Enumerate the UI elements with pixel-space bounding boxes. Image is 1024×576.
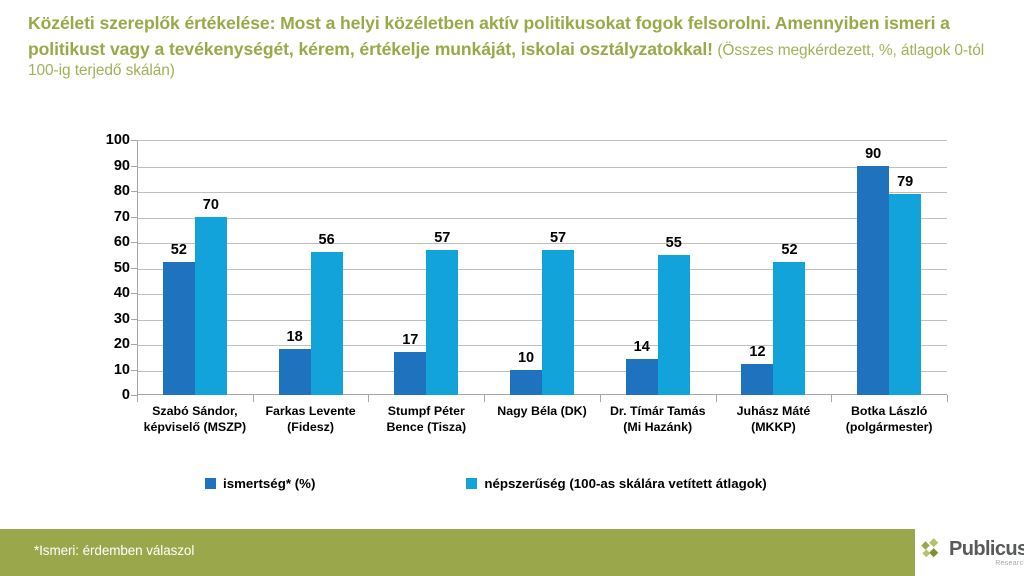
x-axis-category-line: Bence (Tisza): [370, 419, 482, 435]
y-axis-tick: [131, 217, 137, 218]
y-axis-tick: [131, 370, 137, 371]
x-axis-category-label: Juhász Máté(MKKP): [716, 403, 832, 435]
y-axis-tick-label: 40: [90, 285, 130, 301]
bar-value-label: 52: [781, 242, 797, 258]
bar-value-label: 70: [203, 197, 219, 213]
legend-swatch-icon: [466, 478, 477, 489]
bar[interactable]: 57: [542, 250, 574, 395]
y-axis-tick: [131, 344, 137, 345]
x-axis-category-label: Stumpf PéterBence (Tisza): [368, 403, 484, 435]
x-axis-category-label: Nagy Béla (DK): [484, 403, 600, 435]
bar-group: 1757: [368, 140, 484, 395]
y-axis-tick: [131, 242, 137, 243]
bar-group: 1856: [253, 140, 369, 395]
bar-value-label: 52: [171, 242, 187, 258]
bar-group: 1057: [484, 140, 600, 395]
bar-value-label: 90: [865, 146, 881, 162]
x-axis-category-label: Szabó Sándor,képviselő (MSZP): [137, 403, 253, 435]
x-axis-ticks: [137, 395, 947, 402]
x-axis-tick: [947, 395, 948, 402]
chart-legend: ismertség* (%)népszerűség (100-as skálár…: [137, 476, 947, 491]
bar-value-label: 57: [550, 230, 566, 246]
y-axis-tick-label: 60: [90, 234, 130, 250]
bar[interactable]: 79: [889, 194, 921, 395]
bar[interactable]: 57: [426, 250, 458, 395]
bar-group: 1455: [600, 140, 716, 395]
x-axis-category-label: Farkas Levente(Fidesz): [253, 403, 369, 435]
bar[interactable]: 52: [163, 262, 195, 395]
x-axis-tick: [253, 395, 254, 402]
bar[interactable]: 56: [311, 252, 343, 395]
publicus-diamond-icon: [921, 538, 945, 567]
y-axis-tick-label: 100: [90, 132, 130, 148]
x-axis-category-line: (Fidesz): [255, 419, 367, 435]
x-axis-category-line: Farkas Levente: [255, 403, 367, 419]
legend-label: ismertség* (%): [223, 476, 315, 491]
x-axis-tick: [600, 395, 601, 402]
y-axis-tick: [131, 293, 137, 294]
y-axis-tick-label: 0: [90, 387, 130, 403]
logo-subtitle: Research: [949, 560, 1024, 567]
legend-item[interactable]: népszerűség (100-as skálára vetített átl…: [466, 476, 766, 491]
x-axis-tick: [716, 395, 717, 402]
bar[interactable]: 12: [741, 364, 773, 395]
bar[interactable]: 90: [857, 166, 889, 396]
bar[interactable]: 10: [510, 370, 542, 396]
y-axis-tick: [131, 166, 137, 167]
bar-value-label: 10: [518, 350, 534, 366]
y-axis-tick-label: 70: [90, 209, 130, 225]
bar-value-label: 18: [287, 329, 303, 345]
bar-value-label: 56: [319, 232, 335, 248]
y-axis-tick: [131, 395, 137, 396]
bar-group: 1252: [716, 140, 832, 395]
x-axis-category-line: képviselő (MSZP): [139, 419, 251, 435]
x-axis-category-line: Dr. Tímár Tamás: [602, 403, 714, 419]
bar-group: 9079: [831, 140, 947, 395]
x-axis-tick: [137, 395, 138, 402]
bar-groups: 5270185617571057145512529079: [137, 140, 947, 395]
bar-value-label: 79: [897, 174, 913, 190]
x-axis-category-line: Botka László: [833, 403, 945, 419]
y-axis-labels: 0102030405060708090100: [88, 140, 130, 395]
y-axis-tick-label: 90: [90, 158, 130, 174]
brand-logo: Publicus Research: [915, 529, 1024, 576]
x-axis-category-label: Dr. Tímár Tamás(Mi Hazánk): [600, 403, 716, 435]
bar-value-label: 17: [402, 332, 418, 348]
legend-item[interactable]: ismertség* (%): [205, 476, 315, 491]
bar-value-label: 57: [434, 230, 450, 246]
bar-value-label: 12: [749, 344, 765, 360]
x-axis-category-line: Nagy Béla (DK): [486, 403, 598, 419]
y-axis-tick-label: 20: [90, 336, 130, 352]
y-axis-tick-label: 30: [90, 311, 130, 327]
y-axis-tick: [131, 319, 137, 320]
bar[interactable]: 18: [279, 349, 311, 395]
legend-swatch-icon: [205, 478, 216, 489]
bar-group: 5270: [137, 140, 253, 395]
bar[interactable]: 70: [195, 217, 227, 396]
x-axis-category-line: Juhász Máté: [718, 403, 830, 419]
logo-text: Publicus Research: [949, 539, 1024, 567]
x-axis-category-label: Botka László(polgármester): [831, 403, 947, 435]
y-axis-tick: [131, 191, 137, 192]
bar-value-label: 14: [634, 339, 650, 355]
x-axis-category-line: Stumpf Péter: [370, 403, 482, 419]
x-axis-category-line: Szabó Sándor,: [139, 403, 251, 419]
footnote-text: *Ismeri: érdemben válaszol: [34, 543, 194, 558]
y-axis-tick: [131, 268, 137, 269]
logo-name: Publicus: [949, 539, 1024, 559]
x-axis-category-line: (polgármester): [833, 419, 945, 435]
bar-value-label: 55: [666, 235, 682, 251]
bar[interactable]: 14: [626, 359, 658, 395]
x-axis-tick: [484, 395, 485, 402]
x-axis-category-line: (Mi Hazánk): [602, 419, 714, 435]
x-axis-category-line: (MKKP): [718, 419, 830, 435]
legend-label: népszerűség (100-as skálára vetített átl…: [484, 476, 766, 491]
footer-bar: *Ismeri: érdemben válaszol: [0, 529, 915, 576]
x-axis-tick: [368, 395, 369, 402]
bar[interactable]: 17: [394, 352, 426, 395]
bar[interactable]: 55: [658, 255, 690, 395]
y-axis-tick-label: 50: [90, 260, 130, 276]
bar-chart: 0102030405060708090100 52701856175710571…: [0, 0, 1024, 520]
bar[interactable]: 52: [773, 262, 805, 395]
x-axis-labels: Szabó Sándor,képviselő (MSZP)Farkas Leve…: [137, 403, 947, 435]
y-axis-tick-label: 10: [90, 362, 130, 378]
x-axis-tick: [831, 395, 832, 402]
y-axis-tick-label: 80: [90, 183, 130, 199]
y-axis-tick: [131, 140, 137, 141]
